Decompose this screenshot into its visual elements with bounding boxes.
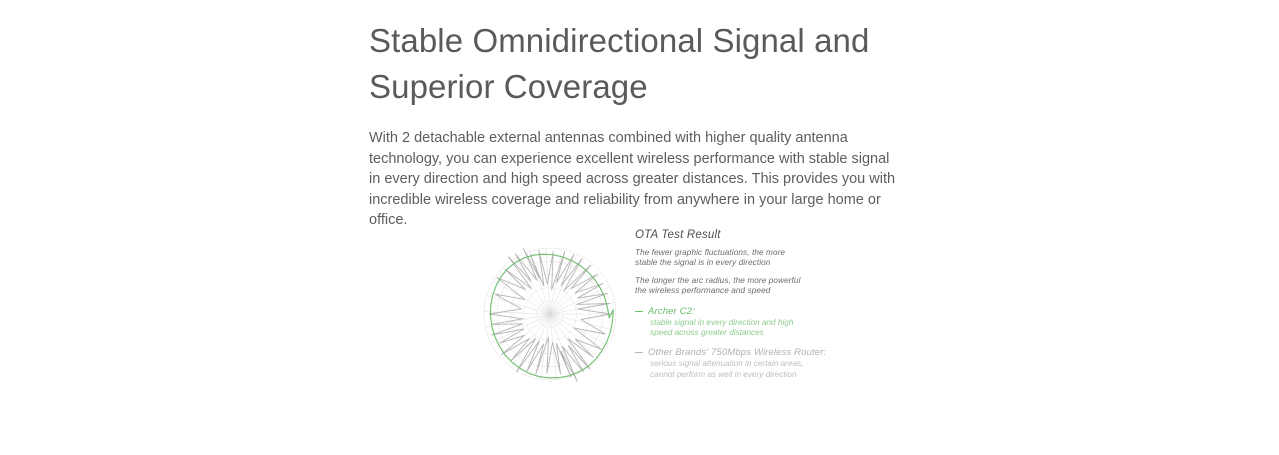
legend-item-archer-c2-desc-line-1: stable signal in every direction and hig… — [648, 318, 865, 328]
figure-note-2-line-1: The longer the arc radius, the more powe… — [635, 276, 865, 286]
legend-item-other-brands: Other Brands' 750Mbps Wireless Router: s… — [635, 347, 865, 380]
figure-note-2-line-2: the wireless performance and speed — [635, 286, 865, 296]
legend-item-other-brands-title: Other Brands' 750Mbps Wireless Router: — [648, 347, 865, 359]
legend-item-other-brands-desc-line-1: serious signal attenuation in certain ar… — [648, 359, 865, 369]
figure-note-2: The longer the arc radius, the more powe… — [635, 276, 865, 297]
polar-chart — [482, 236, 628, 392]
polar-grid — [484, 248, 618, 382]
figure-note-1: The fewer graphic fluctuations, the more… — [635, 248, 865, 269]
ota-test-figure: OTA Test Result The fewer graphic fluctu… — [482, 228, 882, 408]
polar-chart-svg — [482, 236, 628, 392]
page-title: Stable Omnidirectional Signal and Superi… — [369, 18, 909, 110]
center-glow — [535, 299, 565, 329]
legend-item-archer-c2: Archer C2: stable signal in every direct… — [635, 306, 865, 339]
dash-marker-gray-icon — [635, 352, 643, 353]
figure-note-1-line-1: The fewer graphic fluctuations, the more — [635, 248, 865, 258]
figure-legend: OTA Test Result The fewer graphic fluctu… — [635, 228, 865, 380]
ota-test-result-title: OTA Test Result — [635, 228, 865, 242]
dash-marker-green-icon — [635, 311, 643, 312]
figure-note-1-line-2: stable the signal is in every direction — [635, 258, 865, 268]
legend-item-archer-c2-desc-line-2: speed across greater distances — [648, 328, 865, 338]
page-root: Stable Omnidirectional Signal and Superi… — [0, 0, 1279, 455]
legend-item-other-brands-desc-line-2: cannot perform as well in every directio… — [648, 370, 865, 380]
legend-item-archer-c2-title: Archer C2: — [648, 306, 865, 318]
content-block: Stable Omnidirectional Signal and Superi… — [369, 18, 909, 231]
body-paragraph: With 2 detachable external antennas comb… — [369, 128, 897, 231]
